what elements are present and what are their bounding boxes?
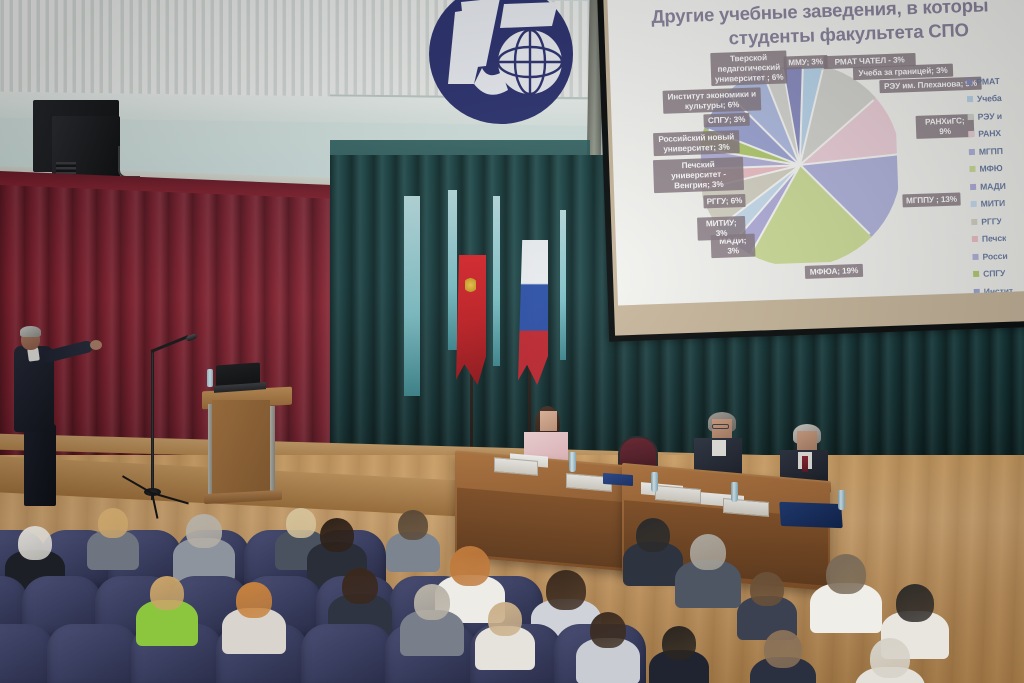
- audience-member-head: [896, 584, 934, 622]
- audience-seat: [0, 624, 54, 683]
- legend-item-7: МИТИ: [970, 193, 1024, 213]
- audience-member-head: [18, 526, 52, 560]
- legend-label: МГПП: [979, 146, 1003, 157]
- legend-swatch-icon: [971, 219, 977, 225]
- audience-member-head: [186, 514, 222, 548]
- legend-label: РАНХ: [978, 128, 1001, 139]
- pie-label-10: Российский новый университет; 3%: [653, 130, 740, 156]
- legend-swatch-icon: [969, 166, 975, 172]
- legend-item-10: Росси: [972, 246, 1024, 266]
- blue-folder: [603, 473, 633, 486]
- audience-member-head: [546, 570, 586, 610]
- legend-swatch-icon: [971, 201, 977, 207]
- pie-label-4: МГППУ ; 13%: [902, 192, 960, 207]
- legend-swatch-icon: [968, 131, 974, 137]
- audience-member-head: [320, 518, 354, 552]
- audience-member-head: [236, 582, 272, 618]
- chart-legend: РМАТУчебаРЭУ иРАНХМГППМФЮМАДИМИТИРГГУПеч…: [966, 71, 1024, 301]
- legend-label: РМАТ: [976, 76, 1000, 87]
- legend-item-0: РМАТ: [966, 71, 1024, 91]
- speaker-hand: [90, 340, 102, 350]
- window-light-gap-2: [448, 190, 457, 350]
- pie-label-11: СПГУ; 3%: [703, 113, 749, 128]
- panelist-woman-head: [540, 411, 557, 431]
- slide-title: Другие учебные заведения, в которы студе…: [608, 0, 1024, 55]
- legend-swatch-icon: [970, 184, 976, 190]
- legend-label: РГГУ: [981, 216, 1002, 227]
- audience-member-head: [750, 572, 784, 606]
- table-bottle-1: [569, 452, 576, 472]
- legend-label: МАДИ: [980, 181, 1006, 192]
- conference-hall-photo: Другие учебные заведения, в которы студе…: [0, 0, 1024, 683]
- legend-label: Инстит: [984, 285, 1014, 296]
- audience-member-head: [450, 546, 490, 586]
- legend-label: МФЮ: [979, 163, 1002, 174]
- audience-member-head: [398, 510, 428, 540]
- audience-seating: [0, 520, 1024, 683]
- pie-label-7: МИТИУ; 3%: [697, 216, 746, 241]
- pie-label-3: РАНХиГС; 9%: [916, 114, 975, 139]
- moscow-flag-red: [456, 255, 486, 385]
- legend-swatch-icon: [972, 236, 978, 242]
- legend-item-4: МГПП: [969, 141, 1024, 161]
- legend-swatch-icon: [968, 114, 974, 120]
- speaker-legs: [24, 424, 56, 506]
- legend-label: РЭУ и: [977, 111, 1002, 122]
- projection-screen: Другие учебные заведения, в которы студе…: [597, 0, 1024, 342]
- legend-item-3: РАНХ: [968, 123, 1024, 143]
- legend-label: Учеба: [977, 93, 1002, 104]
- audience-member-head: [870, 638, 910, 678]
- legend-swatch-icon: [966, 79, 972, 85]
- legend-label: СПГУ: [983, 268, 1006, 279]
- podium-body: [212, 400, 270, 498]
- audience-member-head: [826, 554, 866, 594]
- audience-member-head: [414, 584, 450, 620]
- audience-member-head: [342, 568, 378, 604]
- glasses-icon: [712, 424, 729, 429]
- microphone-stand-pole: [151, 352, 154, 500]
- audience-member-head: [636, 518, 670, 552]
- audience-member-head: [662, 626, 696, 660]
- podium-leg-right: [270, 406, 275, 498]
- audience-member-head: [488, 602, 522, 636]
- legend-swatch-icon: [972, 254, 978, 260]
- audience-member-head: [764, 630, 802, 668]
- pie-label-14: ММУ; 3%: [783, 55, 827, 70]
- legend-item-1: Учеба: [967, 88, 1024, 108]
- table-bottle-4: [838, 490, 845, 510]
- audience-member-head: [150, 576, 184, 610]
- panelist-man-shirt: [712, 440, 726, 456]
- table-bottle-2: [651, 472, 658, 492]
- speaker-hair: [20, 326, 41, 337]
- audience-member-head: [590, 612, 626, 648]
- podium-water-bottle: [207, 369, 213, 387]
- legend-swatch-icon: [967, 96, 973, 102]
- pie-label-9: Печский университет - Венгрия; 3%: [653, 157, 744, 193]
- window-light-gap-1: [404, 196, 420, 396]
- pie-label-5: МФЮА; 19%: [805, 264, 863, 279]
- window-light-gap-3: [493, 196, 500, 366]
- screen-mat: Другие учебные заведения, в которы студе…: [603, 0, 1024, 336]
- audience-member-head: [286, 508, 316, 538]
- institute-logo: [408, 0, 594, 124]
- presentation-slide: Другие учебные заведения, в которы студе…: [607, 0, 1024, 305]
- pie-label-13: Тверской педагогический университет ; 6%: [710, 50, 787, 86]
- audience-member-head: [98, 508, 128, 538]
- audience-member-head: [690, 534, 726, 570]
- legend-item-2: РЭУ и: [967, 106, 1024, 126]
- pie-label-8: РГГУ; 6%: [703, 194, 745, 208]
- legend-label: МИТИ: [981, 198, 1006, 209]
- legend-label: Печск: [982, 233, 1007, 244]
- window-light-gap-4: [560, 210, 566, 360]
- audience-seat: [301, 624, 393, 683]
- legend-swatch-icon: [969, 149, 975, 155]
- speaker-vent: [56, 162, 76, 174]
- legend-label: Росси: [982, 251, 1007, 262]
- legend-item-6: МАДИ: [970, 176, 1024, 196]
- speaker-cable: [118, 146, 140, 178]
- pie-label-12: Институт экономики и культуры; 6%: [663, 87, 762, 113]
- legend-swatch-icon: [973, 271, 979, 277]
- audience-seat: [47, 624, 139, 683]
- legend-swatch-icon: [974, 289, 980, 295]
- flag-emblem-icon: [465, 277, 476, 293]
- legend-item-11: СПГУ: [973, 263, 1024, 283]
- panelist-man2-tie: [802, 456, 808, 472]
- russian-tricolor-flag: [518, 240, 548, 385]
- legend-item-9: Печск: [972, 228, 1024, 248]
- legend-item-5: МФЮ: [969, 158, 1024, 178]
- legend-item-12: Инстит: [973, 281, 1024, 301]
- table-bottle-3: [731, 482, 738, 502]
- legend-item-8: РГГУ: [971, 211, 1024, 231]
